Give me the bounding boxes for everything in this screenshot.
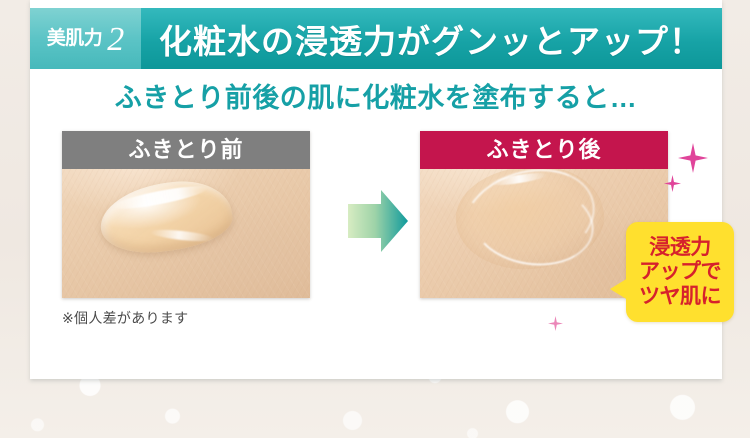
step-badge: 美肌力 2 bbox=[30, 8, 141, 69]
sparkle-icon-tiny bbox=[548, 316, 563, 336]
callout-bubble: 浸透力 アップで ツヤ肌に bbox=[626, 222, 734, 322]
callout-line-3: ツヤ肌に bbox=[639, 285, 721, 309]
sparkle-icon-large bbox=[678, 143, 708, 178]
page-title: 化粧水の浸透力がグンッとアップ！ bbox=[159, 15, 703, 63]
right-arrow-icon bbox=[348, 190, 408, 252]
banner-after-label: ふきとり後 bbox=[486, 139, 601, 161]
header-bar: 美肌力 2 化粧水の浸透力がグンッとアップ！ bbox=[30, 8, 722, 69]
callout-line-1: 浸透力 bbox=[649, 236, 711, 260]
subtitle-text: ふきとり前後の肌に化粧水を塗布すると… bbox=[30, 76, 722, 115]
banner-after: ふきとり後 bbox=[420, 131, 668, 169]
comparison-panel-before: ふきとり前 bbox=[62, 131, 310, 298]
callout-line-2: アップで bbox=[639, 260, 721, 284]
content-card: 美肌力 2 化粧水の浸透力がグンッとアップ！ ふきとり前後の肌に化粧水を塗布する… bbox=[30, 0, 722, 379]
footnote-text: ※個人差があります bbox=[62, 308, 188, 328]
banner-before-label: ふきとり前 bbox=[128, 139, 243, 161]
callout-tail bbox=[610, 278, 628, 300]
banner-before: ふきとり前 bbox=[62, 131, 310, 169]
step-badge-number: 2 bbox=[107, 23, 124, 57]
step-badge-label: 美肌力 bbox=[47, 29, 103, 48]
